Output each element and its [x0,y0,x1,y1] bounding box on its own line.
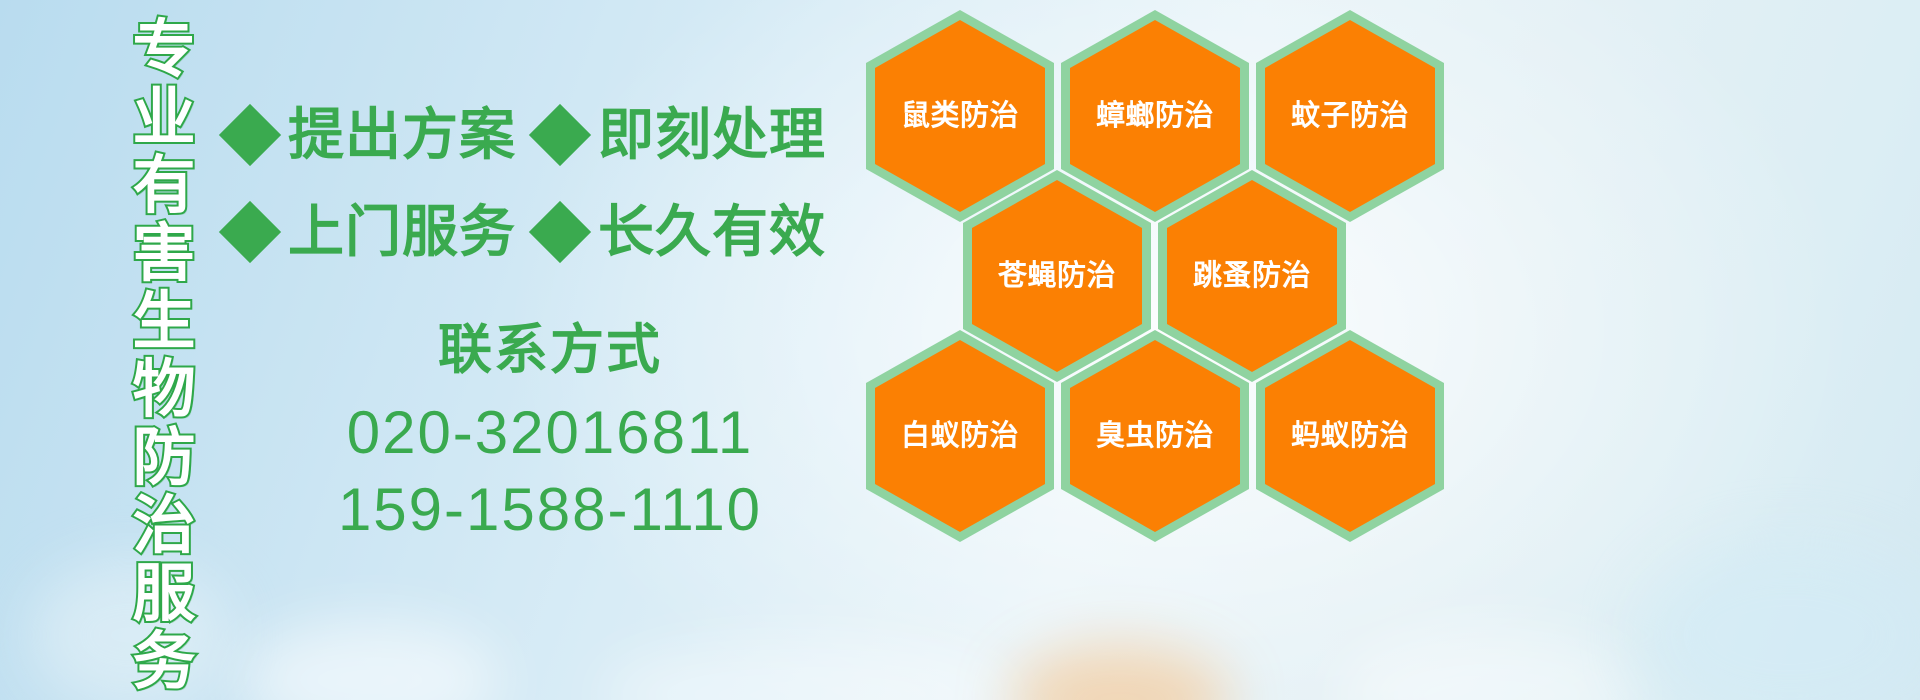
headline-char: 服 [133,560,196,628]
diamond-bullet-icon [219,200,281,262]
contact-title: 联系方式 [300,318,800,383]
feature-row: 上门服务 长久有效 [228,183,868,280]
service-honeycomb: 鼠类防治 蟑螂防治 蚊子防治 苍蝇防治 跳蚤防治 白蚁防治 臭虫防治 蚂蚁 [858,0,1458,560]
diamond-bullet-icon [529,103,591,165]
headline-char: 业 [133,84,196,152]
service-hex-label: 臭虫防治 [1096,422,1214,451]
pest-control-banner: 专 业 有 害 生 物 防 治 服 务 提出方案 即刻处理 上门服务 [0,0,1920,700]
contact-block: 联系方式 020-32016811 159-1588-1110 [300,318,800,548]
headline-char: 务 [133,628,196,696]
feature-item-long-lasting-effect: 长久有效 [538,204,826,260]
feature-item-immediate-handling: 即刻处理 [538,107,826,163]
headline-char: 生 [133,288,196,356]
service-hex-label: 跳蚤防治 [1193,262,1311,291]
headline-char: 治 [133,492,196,560]
background-blob [1010,645,1230,700]
service-hex-label: 蚂蚁防治 [1291,422,1409,451]
diamond-bullet-icon [529,200,591,262]
feature-row: 提出方案 即刻处理 [228,86,868,183]
diamond-bullet-icon [219,103,281,165]
headline-char: 害 [133,220,196,288]
service-hex-label: 苍蝇防治 [998,262,1116,291]
feature-label: 上门服务 [288,204,516,260]
background-blob [240,620,500,700]
service-hex-label: 蟑螂防治 [1096,102,1214,131]
headline-char: 专 [133,16,196,84]
service-hex-label: 蚊子防治 [1291,102,1409,131]
service-hex-label: 白蚁防治 [901,422,1019,451]
headline-char: 物 [133,356,196,424]
service-hex-label: 鼠类防治 [901,102,1019,131]
feature-item-door-to-door-service: 上门服务 [228,204,516,260]
background-blob [1640,540,1920,700]
background-blob [600,640,1020,700]
feature-list: 提出方案 即刻处理 上门服务 长久有效 [228,86,868,280]
feature-label: 长久有效 [598,204,826,260]
phone-mobile[interactable]: 159-1588-1110 [300,472,800,549]
feature-label: 即刻处理 [598,107,826,163]
feature-item-propose-plan: 提出方案 [228,107,516,163]
headline-char: 有 [133,152,196,220]
phone-landline[interactable]: 020-32016811 [300,395,800,472]
vertical-headline: 专 业 有 害 生 物 防 治 服 务 [112,16,216,686]
feature-label: 提出方案 [288,107,516,163]
background-blob [1340,630,1640,700]
headline-char: 防 [133,424,196,492]
